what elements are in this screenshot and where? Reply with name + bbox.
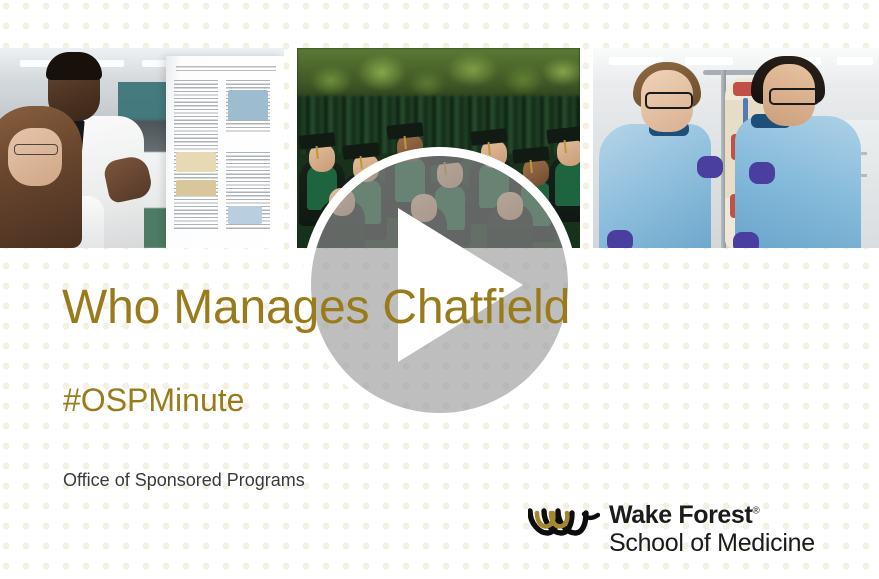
poster-session-photo <box>0 48 284 248</box>
anatomy-lab-photo <box>593 48 879 248</box>
wake-forest-wordmark: Wake Forest® School of Medicine <box>609 502 815 557</box>
brand-line-1-text: Wake Forest <box>609 501 752 529</box>
registered-trademark-icon: ® <box>752 506 759 517</box>
page-title: Who Manages Chatfield <box>62 281 570 335</box>
wake-forest-logo: Wake Forest® School of Medicine <box>528 502 815 557</box>
brand-line-1: Wake Forest® <box>609 502 815 529</box>
wake-forest-double-w-icon <box>528 506 600 541</box>
department-label: Office of Sponsored Programs <box>63 470 305 492</box>
brand-line-2: School of Medicine <box>609 530 815 558</box>
video-slide: Who Manages Chatfield #OSPMinute Office … <box>0 0 879 579</box>
hashtag-label: #OSPMinute <box>63 383 244 418</box>
